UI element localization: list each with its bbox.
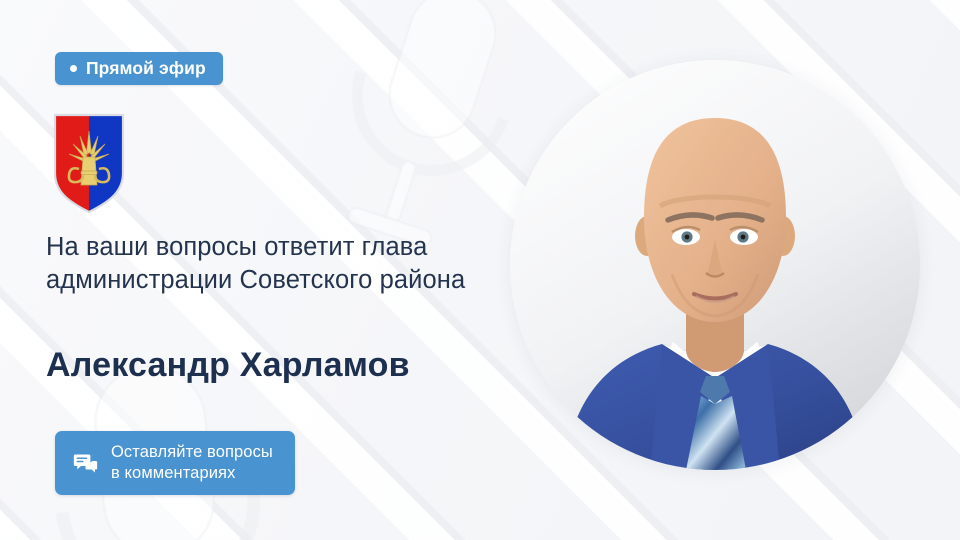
- page-title: Александр Харламов: [46, 344, 410, 386]
- live-dot-icon: [70, 65, 77, 72]
- live-badge-label: Прямой эфир: [86, 60, 206, 78]
- leave-questions-label: Оставляйте вопросы в комментариях: [111, 442, 273, 484]
- comment-bubble-icon: [73, 451, 98, 476]
- avatar: [510, 60, 920, 470]
- coat-of-arms-icon: [53, 113, 125, 214]
- live-broadcast-badge[interactable]: Прямой эфир: [55, 52, 223, 85]
- page-subtitle: На ваши вопросы ответит глава администра…: [46, 231, 476, 297]
- person-photo: [510, 60, 920, 470]
- broadcast-announcement-card: Прямой эфир На ваши вопросы: [0, 0, 960, 540]
- leave-questions-button[interactable]: Оставляйте вопросы в комментариях: [55, 431, 295, 495]
